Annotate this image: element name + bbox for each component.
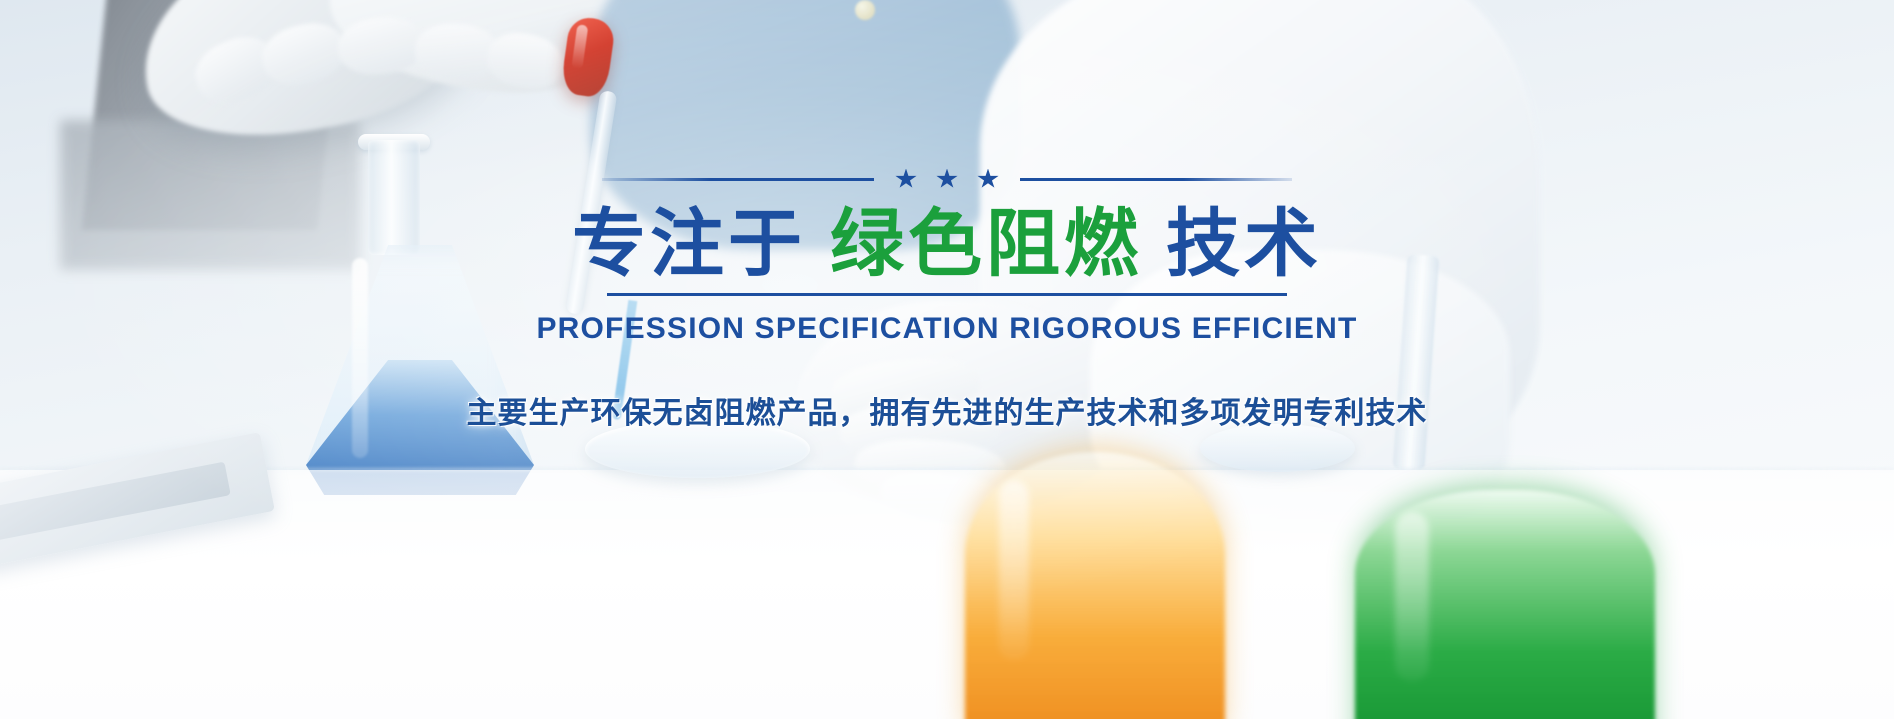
- headline-part-2: 绿色阻燃: [830, 204, 1142, 284]
- banner-content: 专注于 绿色阻燃 技术 PROFESSION SPECIFICATION RIG…: [0, 0, 1894, 719]
- headline-underline: [607, 293, 1287, 296]
- divider-line-left: [602, 178, 874, 181]
- star-icon: [936, 169, 958, 190]
- banner-subtitle: PROFESSION SPECIFICATION RIGOROUS EFFICI…: [536, 312, 1357, 346]
- star-group: [874, 169, 1020, 190]
- banner-headline: 专注于 绿色阻燃 技术: [572, 204, 1322, 284]
- star-icon: [977, 169, 999, 190]
- headline-part-1: 专注于: [572, 204, 806, 284]
- headline-part-3: 技术: [1166, 204, 1322, 284]
- divider-line-right: [1020, 178, 1292, 181]
- hero-banner: 专注于 绿色阻燃 技术 PROFESSION SPECIFICATION RIG…: [0, 0, 1894, 719]
- star-icon: [895, 169, 917, 190]
- banner-tagline: 主要生产环保无卤阻燃产品，拥有先进的生产技术和多项发明专利技术: [467, 388, 1428, 432]
- decorative-divider: [602, 168, 1292, 190]
